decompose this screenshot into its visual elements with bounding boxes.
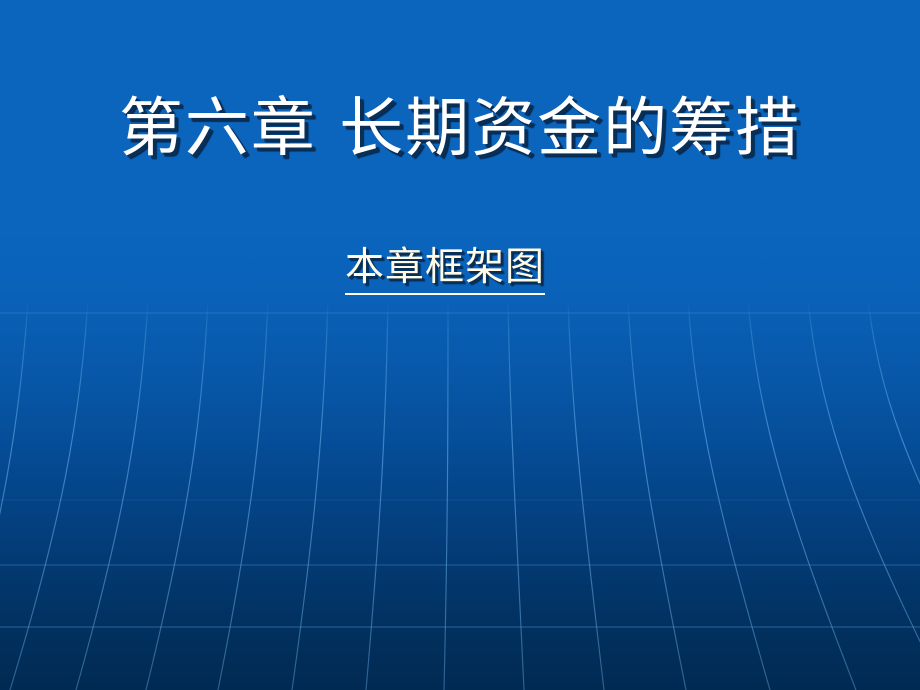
- slide-title: 第六章 长期资金的筹措: [0, 96, 920, 163]
- slide-subtitle-wrapper: 本章框架图: [345, 246, 545, 295]
- presentation-slide: 第六章 长期资金的筹措 本章框架图: [0, 0, 920, 690]
- slide-title-text: 第六章 长期资金的筹措: [119, 96, 801, 163]
- meridian-lines: [0, 300, 920, 690]
- latitude-lines: [0, 313, 920, 627]
- slide-subtitle-link[interactable]: 本章框架图: [345, 246, 545, 295]
- slide-subtitle: 本章框架图: [0, 246, 920, 295]
